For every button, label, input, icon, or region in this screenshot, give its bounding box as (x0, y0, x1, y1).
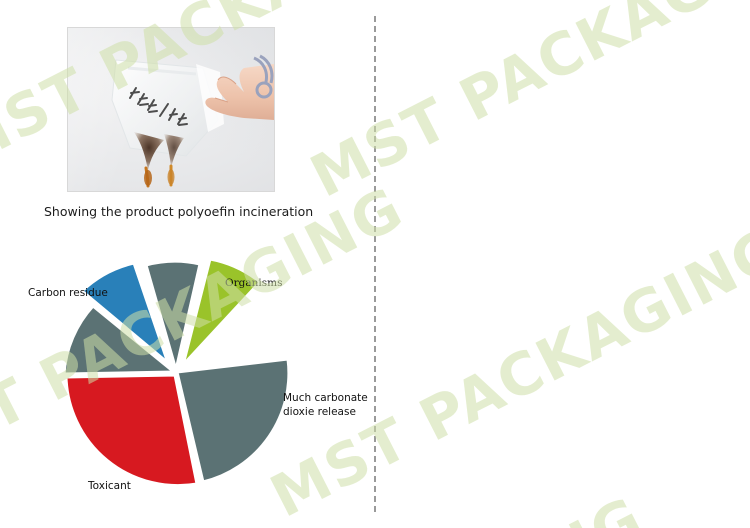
right-panel: Showing the product afrer the incinerati… (375, 0, 750, 528)
photo-illustration-left (68, 28, 274, 191)
slice-toxicant[interactable] (66, 375, 197, 486)
panel-divider (374, 16, 376, 512)
left-panel: Showing the product polyoefin incinerati… (0, 0, 375, 528)
pie-label-carbonate-dioxie-left: Much carbonate dioxie release (283, 392, 368, 419)
pie-label-toxicant-left: Toxicant (88, 480, 131, 494)
pie-label-carbon-residue-left: Carbon residue (28, 287, 108, 301)
photo-polyolefin-incineration (67, 27, 275, 192)
caption-left: Showing the product polyoefin incinerati… (44, 203, 364, 220)
pie-label-organisms-left: Organisms (225, 277, 282, 291)
